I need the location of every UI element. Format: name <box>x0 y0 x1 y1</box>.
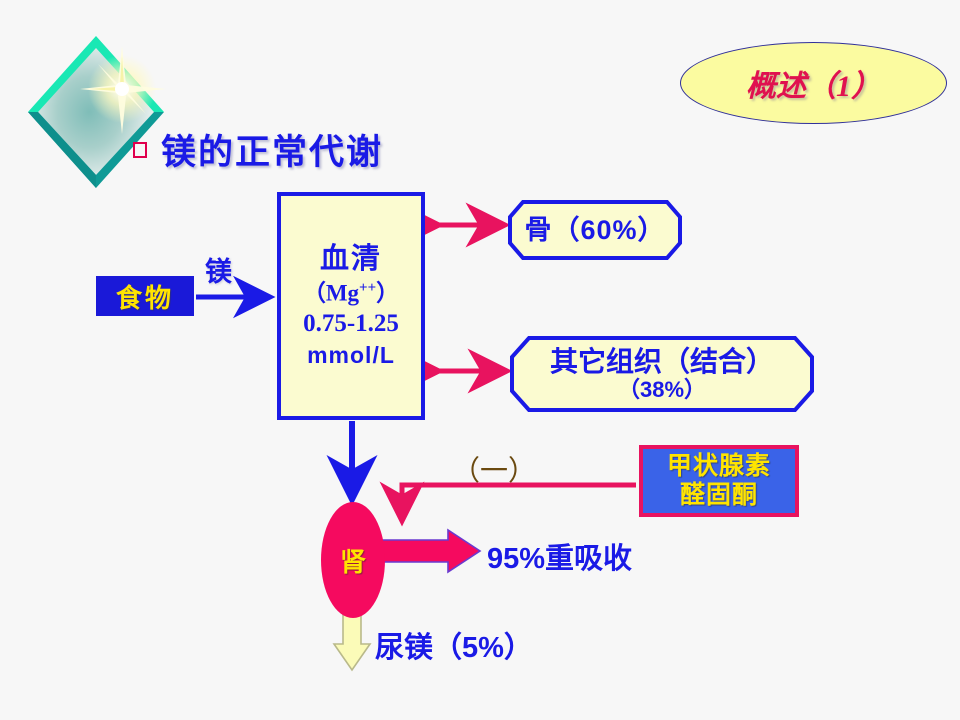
hormone-aldosterone-label: 醛固酮 <box>680 481 758 511</box>
serum-range: 0.75-1.25 <box>303 310 399 337</box>
arrow-urine-output <box>334 614 370 670</box>
tissue-node: 其它组织（结合） （38%） <box>509 335 815 413</box>
serum-node: 血清 （Mg++） 0.75-1.25 mmol/L <box>277 192 425 420</box>
serum-ion-prefix: （Mg <box>303 281 359 306</box>
urine-label: 尿镁（5%） <box>375 624 533 666</box>
serum-unit: mmol/L <box>307 343 395 368</box>
section-callout-badge: 概述（1） <box>680 42 947 124</box>
serum-ion-suffix: ） <box>376 281 399 306</box>
kidney-node: 肾 <box>321 502 385 618</box>
hormone-node: 甲状腺素 醛固酮 <box>639 445 799 517</box>
bone-label: 骨（60%） <box>524 216 665 244</box>
arrow-reabsorption-block <box>374 530 480 572</box>
serum-ion-charge: ++ <box>359 280 376 296</box>
serum-title: 血清 <box>320 244 382 275</box>
section-callout-text: 概述（1） <box>746 61 881 105</box>
square-bullet-icon <box>133 142 147 158</box>
arrow-hormone-inhibition <box>402 485 636 519</box>
tissue-percent: （38%） <box>618 378 706 401</box>
page-title: 镁的正常代谢 <box>133 124 383 175</box>
slide-canvas: 镁的正常代谢 概述（1） <box>0 0 960 720</box>
intake-edge-label: 镁 <box>205 250 232 289</box>
inhibition-label: （一） <box>452 449 536 489</box>
kidney-label: 肾 <box>340 542 366 579</box>
bone-node: 骨（60%） <box>507 199 683 261</box>
serum-ion: （Mg++） <box>303 280 399 306</box>
page-title-text: 镁的正常代谢 <box>161 124 383 175</box>
food-node: 食物 <box>96 276 194 316</box>
hormone-thyroxine-label: 甲状腺素 <box>667 452 771 482</box>
food-label: 食物 <box>116 278 174 315</box>
reabsorption-label: 95%重吸收 <box>487 535 632 577</box>
tissue-label: 其它组织（结合） <box>550 347 774 376</box>
